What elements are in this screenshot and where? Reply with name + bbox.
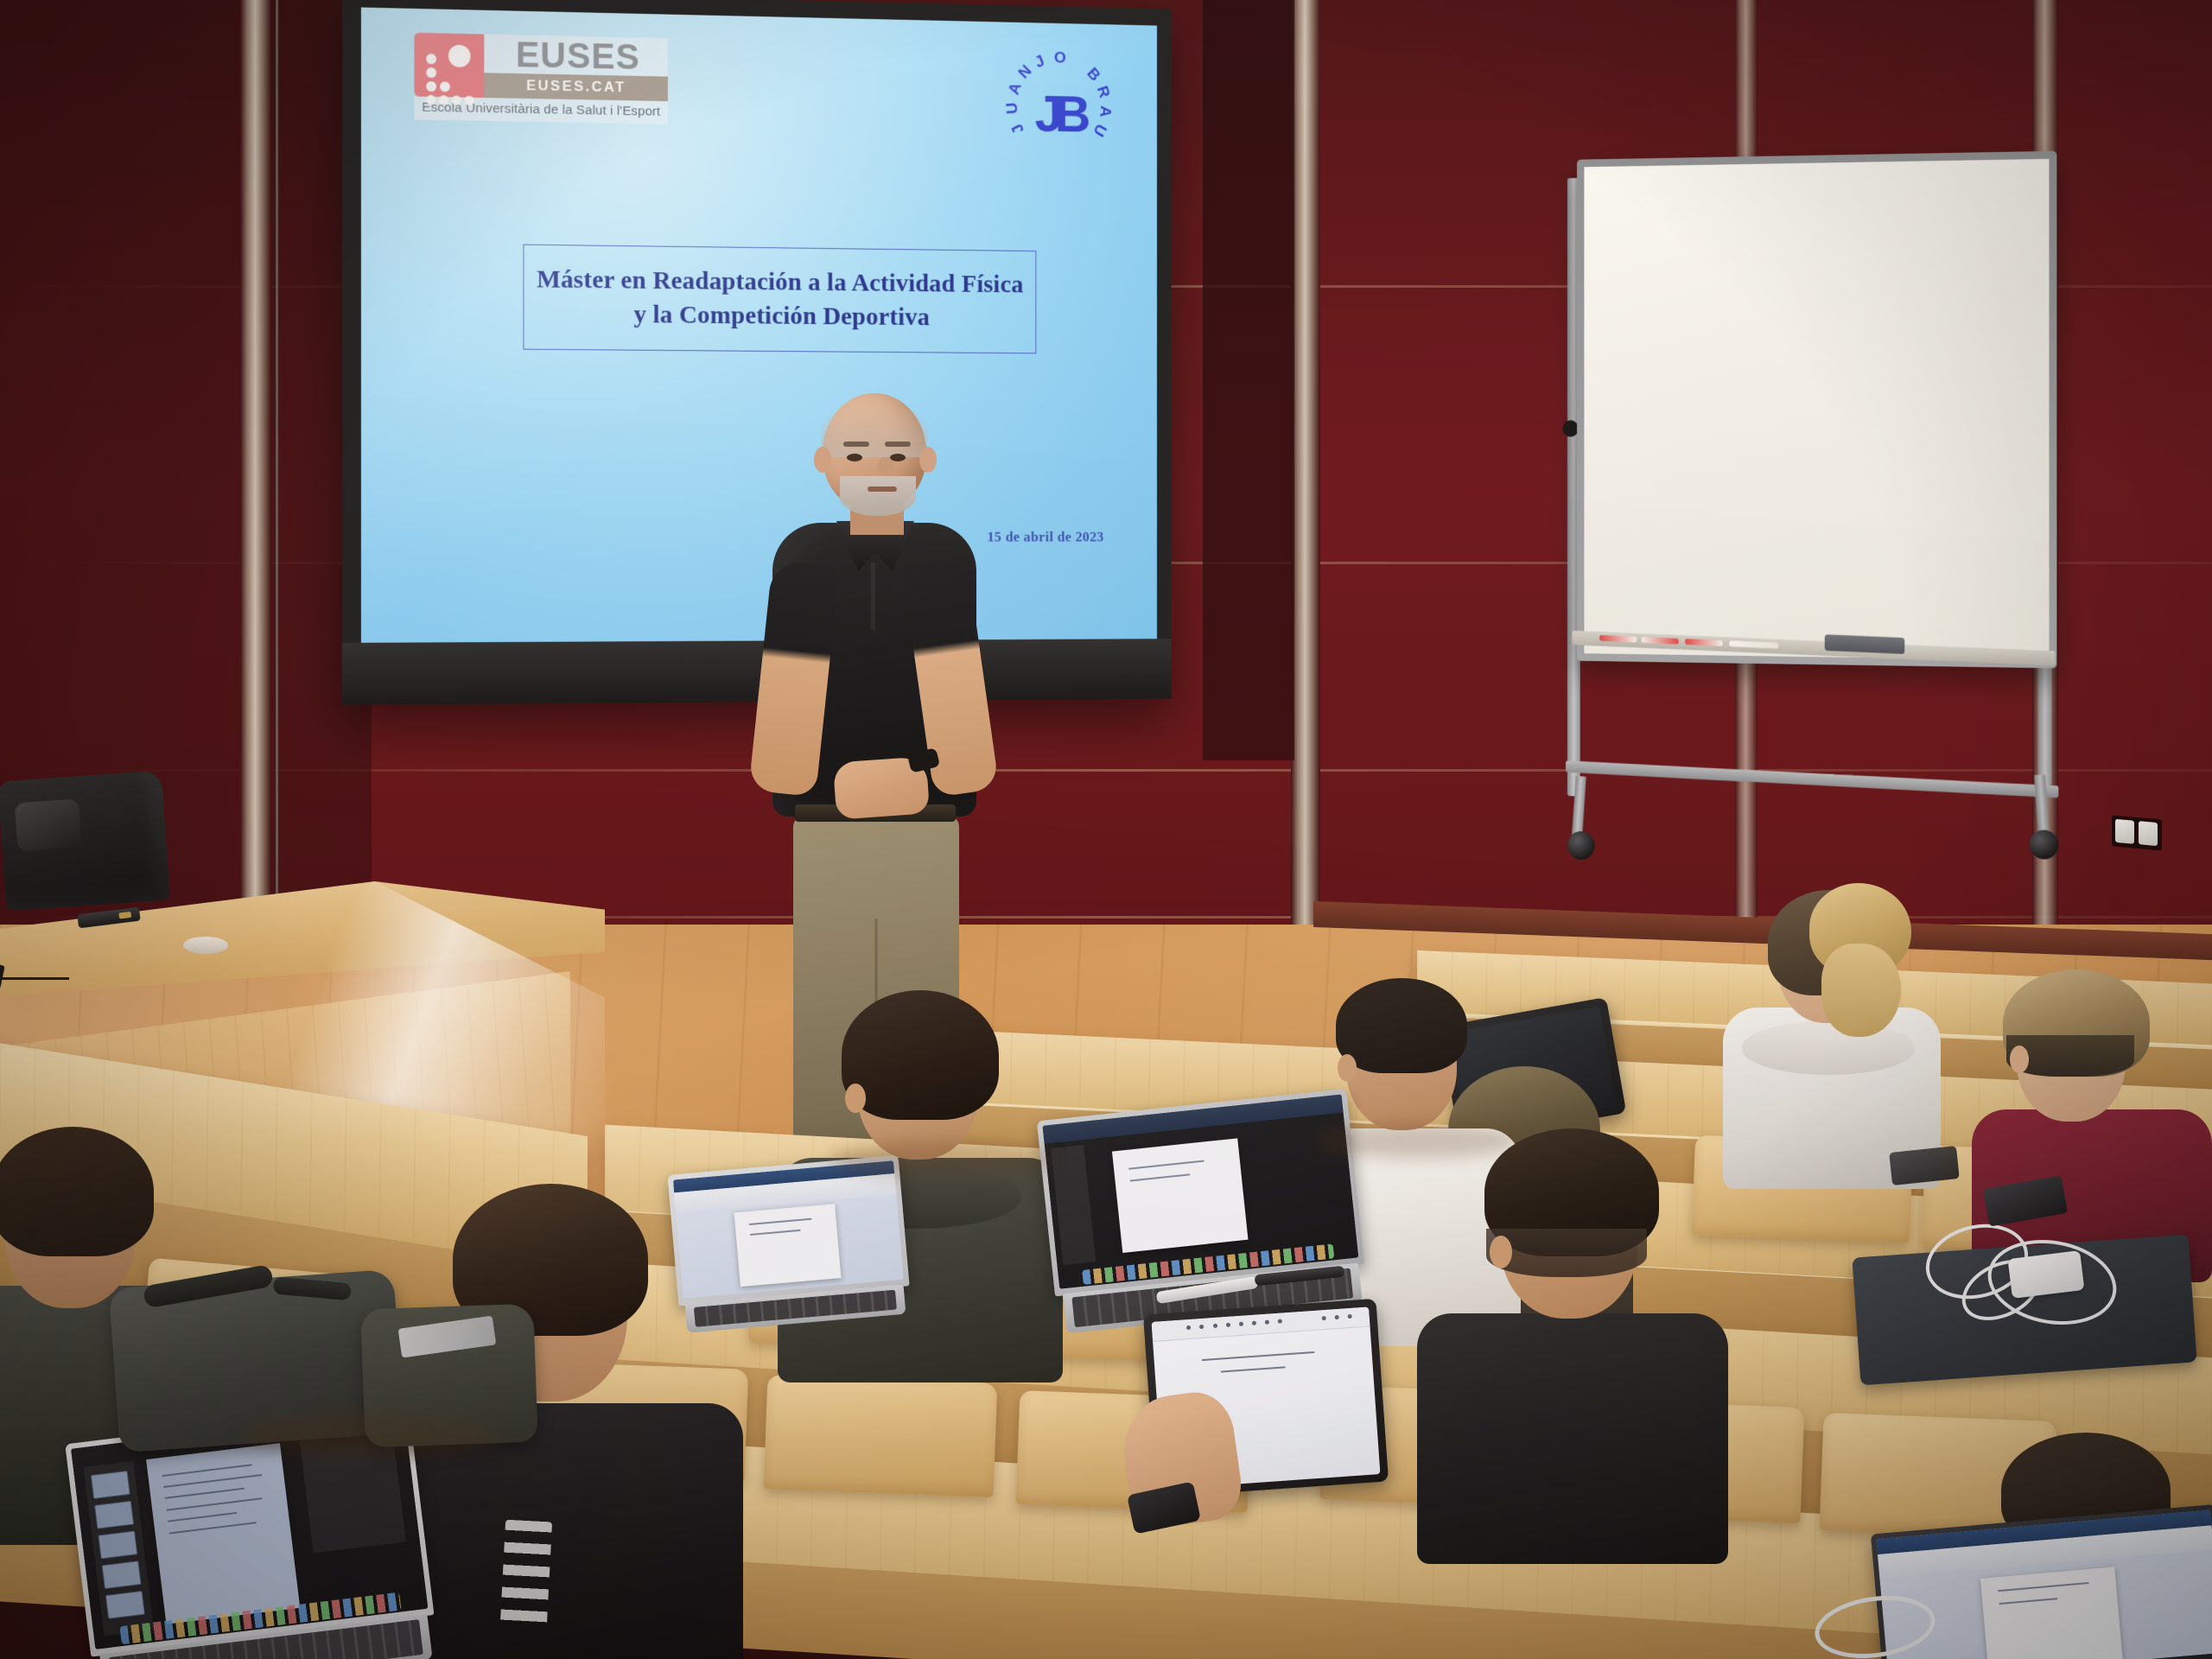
- student-ear: [845, 1084, 866, 1113]
- document-page[interactable]: [734, 1204, 842, 1286]
- tablet-toolbar[interactable]: [1152, 1306, 1370, 1342]
- seat-back[interactable]: [764, 1375, 998, 1497]
- presenter-ear-right: [919, 447, 937, 473]
- student-hair-dark: [0, 1127, 154, 1256]
- projected-slide: EUSES EUSES.CAT Escola Universitària de …: [361, 8, 1157, 643]
- euses-wordmark: EUSES: [484, 35, 668, 77]
- outlet-socket[interactable]: [2139, 821, 2158, 846]
- whiteboard-wheel: [2030, 829, 2059, 860]
- slide-date: 15 de abril de 2023: [988, 529, 1104, 545]
- euses-logo-mark: [414, 33, 484, 98]
- whiteboard-surface[interactable]: [1584, 159, 2049, 660]
- juanjo-brau-arc-letter: U: [1089, 120, 1109, 139]
- whiteboard-wheel: [1567, 831, 1595, 861]
- outlet-socket[interactable]: [2115, 819, 2134, 844]
- euses-logo: EUSES EUSES.CAT Escola Universitària de …: [414, 33, 668, 124]
- juanjo-brau-arc-letter: O: [1054, 49, 1066, 68]
- juanjo-brau-arc-letter: N: [1015, 62, 1036, 83]
- student-shirt-black: [1417, 1313, 1728, 1564]
- document-page[interactable]: [146, 1444, 299, 1624]
- slide-thumbnail[interactable]: [102, 1560, 142, 1589]
- screen-bottom-bar: [342, 639, 1172, 705]
- presenter-beard: [840, 476, 916, 516]
- marker-white[interactable]: [1729, 640, 1778, 648]
- hoodie-hood: [1742, 1021, 1915, 1075]
- wall-strip: [275, 0, 279, 1020]
- phone-second[interactable]: [1889, 1146, 1960, 1185]
- office-chair[interactable]: [0, 771, 170, 912]
- presenter-mouth: [868, 486, 897, 492]
- seat-shadow: [829, 1141, 1054, 1179]
- student-center-right: [1417, 1128, 1728, 1543]
- whiteboard-frame: [1577, 151, 2056, 669]
- presenter-eye-left: [847, 454, 862, 461]
- backpack-strap: [273, 1276, 352, 1300]
- student-upper-right: [1719, 876, 1944, 1161]
- slide-title-line-1: Máster en Readaptación a la Actividad Fí…: [536, 263, 1024, 302]
- whiteboard: [1545, 130, 2091, 985]
- laptop-macbook-dark[interactable]: [1037, 1089, 1369, 1338]
- laptop-screen[interactable]: [673, 1160, 904, 1299]
- juanjo-brau-logo: JUANJOBRAU JB: [1002, 42, 1116, 170]
- desk-cable-grommet: [183, 937, 228, 954]
- wall-outlet[interactable]: [2112, 815, 2162, 850]
- juanjo-brau-arc-letter: A: [1006, 80, 1027, 98]
- juanjo-brau-arc-letter: U: [1003, 102, 1022, 115]
- slide-thumbnail[interactable]: [91, 1471, 130, 1499]
- document-page[interactable]: [1112, 1138, 1249, 1252]
- wall-pillar-left: [240, 0, 271, 1020]
- student-ear: [2010, 1046, 2029, 1073]
- student-hair-ponytail: [1821, 944, 1901, 1037]
- desk-cable: [0, 945, 69, 980]
- juanjo-brau-arc-letter: J: [1033, 52, 1047, 73]
- laptop-macbook-small[interactable]: [667, 1155, 912, 1336]
- student-ear: [1490, 1236, 1512, 1268]
- marker-red[interactable]: [1599, 635, 1637, 643]
- slide-title-line-2: y la Competición Deportiva: [536, 296, 1024, 334]
- whiteboard-foot-bar: [1566, 760, 2058, 798]
- projection-screen: EUSES EUSES.CAT Escola Universitària de …: [342, 0, 1172, 705]
- whiteboard-eraser[interactable]: [1825, 634, 1905, 654]
- juanjo-brau-arc-letter: B: [1083, 65, 1103, 86]
- juanjo-brau-arc-letter: J: [1008, 120, 1028, 137]
- presenter-placket: [871, 563, 875, 630]
- juanjo-brau-arc-letter: A: [1096, 105, 1114, 118]
- backpack-label: [398, 1316, 497, 1358]
- presenter-brow-left: [843, 442, 869, 447]
- wall-pillar-center: [1291, 0, 1320, 1020]
- student-hair-short: [1336, 978, 1467, 1073]
- marker-white[interactable]: [1642, 637, 1679, 645]
- laptop-screen[interactable]: [1042, 1094, 1358, 1288]
- presenter-brow-right: [885, 442, 911, 447]
- jacket-stripe: [500, 1520, 552, 1626]
- slide-thumbnail[interactable]: [94, 1501, 134, 1529]
- juanjo-brau-arc-text: JUANJOBRAU: [1002, 42, 1116, 45]
- juanjo-brau-arc-letter: R: [1092, 84, 1113, 100]
- slide-thumbnail[interactable]: [99, 1530, 138, 1559]
- juanjo-brau-monogram: JB: [1035, 88, 1083, 141]
- laptop-lid: [1037, 1089, 1364, 1297]
- wall-shadow-band: [1203, 0, 1294, 760]
- seat-shadow: [242, 1414, 501, 1457]
- slide-thumbnail[interactable]: [105, 1591, 145, 1619]
- lecture-hall-photo: EUSES EUSES.CAT Escola Universitària de …: [0, 0, 2212, 1659]
- student-ear: [1338, 1054, 1357, 1082]
- euses-domain: EUSES.CAT: [484, 73, 668, 101]
- seat-shadow: [1313, 1123, 1521, 1158]
- document-page[interactable]: [1980, 1567, 2122, 1659]
- presenter-ear-left: [814, 447, 831, 473]
- slide-title-box: Máster en Readaptación a la Actividad Fí…: [523, 245, 1036, 354]
- marker-red[interactable]: [1685, 639, 1722, 646]
- presenter-hair: [821, 404, 928, 457]
- laptop-lid: [667, 1155, 909, 1306]
